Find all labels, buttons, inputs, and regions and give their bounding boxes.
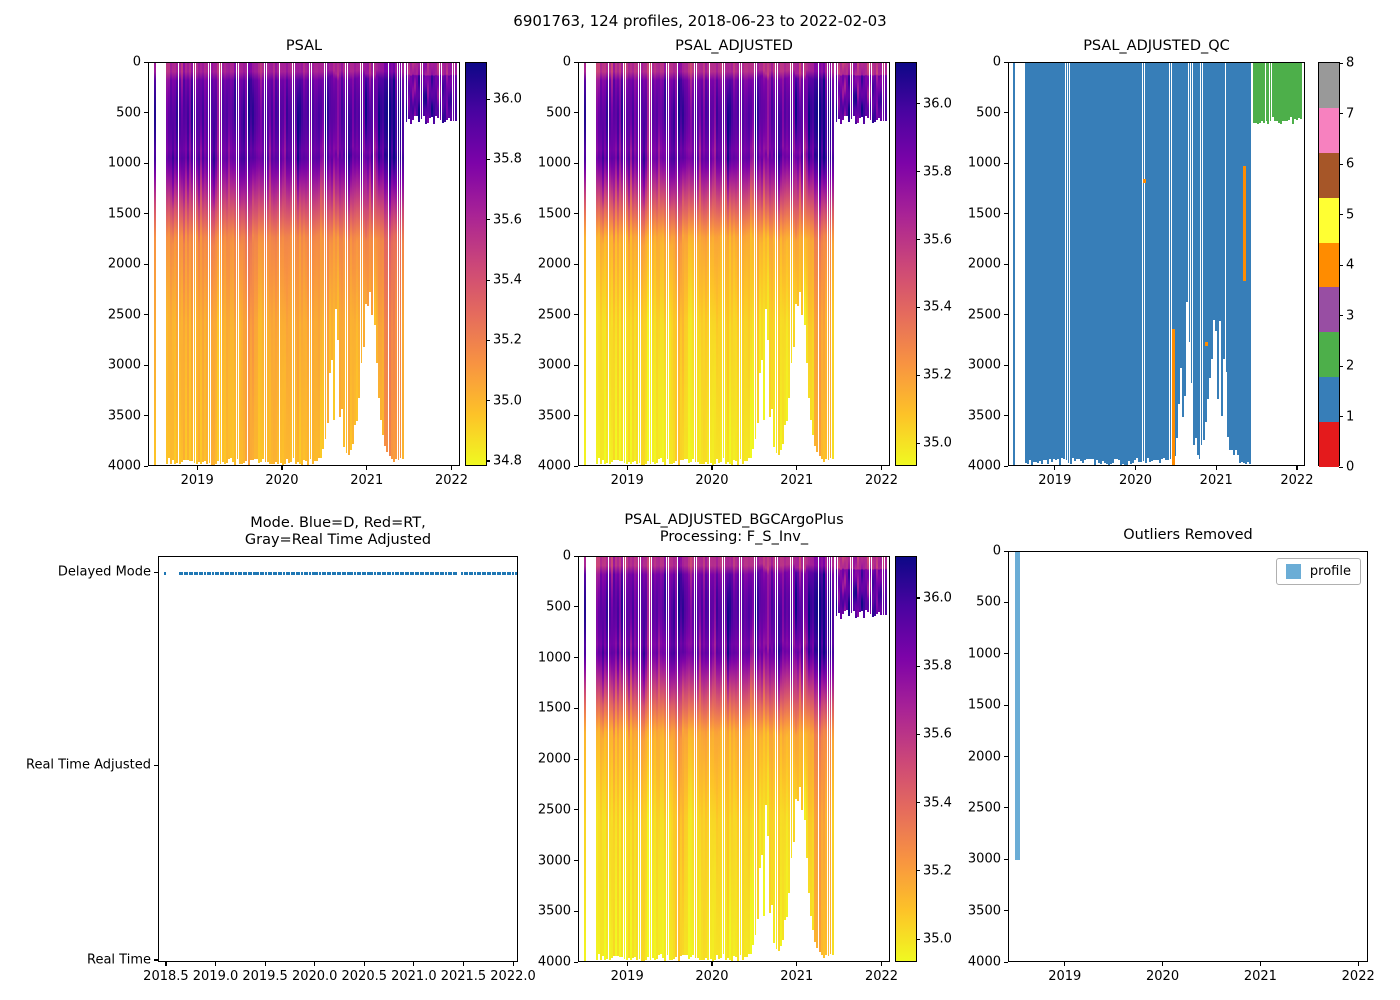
axes-psal-adjusted[interactable] <box>578 62 890 466</box>
ytick-mark <box>1004 365 1008 366</box>
ytick-label: 0 <box>993 544 1001 559</box>
xtick-mark <box>1064 962 1065 966</box>
ytick-label: 1500 <box>538 206 571 221</box>
colorbar-qc[interactable]: 876543210 <box>1318 62 1340 466</box>
ytick-mark <box>1004 756 1008 757</box>
xtick-mark <box>513 962 514 966</box>
ytick-mark <box>144 62 148 63</box>
qc-colorbar-tick-mark <box>1339 366 1343 367</box>
qc-colorbar-tick-mark <box>1339 467 1343 468</box>
xtick-label: 2020.5 <box>342 969 388 984</box>
colorbar-tick-label: 35.0 <box>916 436 952 451</box>
colorbar-tick-mark <box>916 666 920 667</box>
xtick-label: 2022 <box>865 969 898 984</box>
mode-ytick-mark <box>154 959 158 960</box>
panel-psal-title: PSAL <box>148 38 460 55</box>
ytick-mark <box>574 911 578 912</box>
qc-colorbar-segment-4 <box>1319 243 1339 288</box>
ytick-mark <box>1004 653 1008 654</box>
xtick-mark <box>881 962 882 966</box>
ytick-label: 2000 <box>538 752 571 767</box>
qc-colorbar-tick-mark <box>1339 315 1343 316</box>
qc-colorbar-tick-mark <box>1339 416 1343 417</box>
ytick-label: 2000 <box>968 749 1001 764</box>
legend-label-profile: profile <box>1310 564 1351 579</box>
xtick-label: 2020.0 <box>292 969 338 984</box>
xtick-label: 2019 <box>181 473 214 488</box>
ytick-label: 1000 <box>108 156 141 171</box>
colorbar-tick-label: 35.0 <box>486 393 522 408</box>
colorbar-tick-label: 35.6 <box>916 232 952 247</box>
xtick-mark <box>265 962 266 966</box>
profile-column <box>832 63 834 459</box>
colorbar-tick-label: 35.8 <box>916 659 952 674</box>
profile-column <box>832 557 834 955</box>
ytick-label: 0 <box>563 55 571 70</box>
ytick-label: 3500 <box>538 408 571 423</box>
colorbar-gradient-psal-adjusted <box>896 63 916 465</box>
xtick-mark <box>1162 962 1163 966</box>
xtick-label: 2019 <box>611 969 644 984</box>
colorbar-gradient-bgcargoplus <box>896 557 916 961</box>
xtick-label: 2020 <box>695 969 728 984</box>
ytick-mark <box>574 759 578 760</box>
xtick-mark <box>1216 466 1217 470</box>
ytick-mark <box>144 365 148 366</box>
xtick-label: 2021 <box>780 473 813 488</box>
mode-point-delayed <box>298 572 300 575</box>
ytick-mark <box>1004 602 1008 603</box>
ytick-mark <box>1004 163 1008 164</box>
profile-column <box>885 557 887 615</box>
qc-colorbar-segment-8 <box>1319 63 1339 108</box>
colorbar-tick-label: 36.0 <box>916 96 952 111</box>
ytick-mark <box>1004 213 1008 214</box>
ytick-mark <box>144 163 148 164</box>
plot-area-mode <box>159 557 517 961</box>
mode-point-delayed <box>164 572 166 575</box>
colorbar-tick-label: 35.2 <box>916 368 952 383</box>
xtick-mark <box>314 962 315 966</box>
figure-suptitle: 6901763, 124 profiles, 2018-06-23 to 202… <box>0 12 1400 30</box>
panel-bgc-title-line2: Processing: F_S_Inv_ <box>578 529 890 546</box>
mode-point-delayed <box>515 572 517 575</box>
qc-colorbar-segment-6 <box>1319 153 1339 198</box>
mode-point-delayed <box>199 572 201 575</box>
ytick-mark <box>144 415 148 416</box>
qc-profile-column <box>1300 63 1302 119</box>
ytick-label: 2500 <box>968 307 1001 322</box>
axes-mode[interactable] <box>158 556 518 962</box>
xtick-mark <box>627 466 628 470</box>
panel-bgc-title-line1: PSAL_ADJUSTED_BGCArgoPlus <box>578 512 890 529</box>
ytick-label: 2500 <box>968 800 1001 815</box>
ytick-label: 1000 <box>968 646 1001 661</box>
figure-canvas: 6901763, 124 profiles, 2018-06-23 to 202… <box>0 0 1400 1000</box>
xtick-mark <box>364 962 365 966</box>
xtick-label: 2020 <box>265 473 298 488</box>
ytick-label: 500 <box>976 105 1001 120</box>
ytick-label: 3500 <box>108 408 141 423</box>
xtick-mark <box>627 962 628 966</box>
qc-flag-4-point <box>1205 342 1208 346</box>
xtick-label: 2022 <box>1280 473 1313 488</box>
plot-area-psal <box>149 63 459 465</box>
panel-mode-title-line1: Mode. Blue=D, Red=RT, <box>158 515 518 532</box>
xtick-label: 2019 <box>1048 969 1081 984</box>
ytick-label: 0 <box>563 549 571 564</box>
xtick-mark <box>165 962 166 966</box>
colorbar-tick-mark <box>916 734 920 735</box>
xtick-mark <box>413 962 414 966</box>
mode-point-delayed <box>437 572 439 575</box>
xtick-label: 2019.0 <box>193 969 239 984</box>
mode-point-delayed <box>280 572 282 575</box>
legend-swatch-profile <box>1286 564 1301 579</box>
colorbar-gradient-psal <box>466 63 486 465</box>
ytick-label: 500 <box>116 105 141 120</box>
xtick-label: 2022 <box>865 473 898 488</box>
profile-column <box>885 63 887 121</box>
ytick-label: 3500 <box>968 408 1001 423</box>
ytick-label: 4000 <box>968 459 1001 474</box>
colorbar-tick-label: 34.8 <box>486 453 522 468</box>
ytick-mark <box>574 264 578 265</box>
qc-colorbar-tick-mark <box>1339 265 1343 266</box>
xtick-mark <box>711 466 712 470</box>
mode-ytick-mark <box>154 765 158 766</box>
mode-point-delayed <box>215 572 217 575</box>
colorbar-tick-mark <box>916 597 920 598</box>
ytick-mark <box>1004 807 1008 808</box>
colorbar-tick-label: 35.4 <box>916 300 952 315</box>
panel-mode-title-line2: Gray=Real Time Adjusted <box>158 532 518 549</box>
mode-point-delayed <box>471 572 473 575</box>
ytick-label: 0 <box>993 55 1001 70</box>
panel-psal-adjusted-title: PSAL_ADJUSTED <box>578 38 890 55</box>
xtick-label: 2019.5 <box>242 969 288 984</box>
ytick-mark <box>1004 264 1008 265</box>
colorbar-tick-label: 35.4 <box>916 795 952 810</box>
xtick-mark <box>197 466 198 470</box>
colorbar-tick-mark <box>486 99 490 100</box>
xtick-label: 2021.0 <box>391 969 437 984</box>
ytick-mark <box>574 606 578 607</box>
ytick-label: 1500 <box>108 206 141 221</box>
colorbar-tick-mark <box>916 939 920 940</box>
colorbar-tick-label: 35.8 <box>486 152 522 167</box>
profile-column <box>154 63 156 465</box>
ytick-mark <box>1004 466 1008 467</box>
colorbar-tick-mark <box>916 870 920 871</box>
ytick-label: 1500 <box>968 206 1001 221</box>
ytick-mark <box>144 213 148 214</box>
xtick-mark <box>215 962 216 966</box>
qc-colorbar-segment-7 <box>1319 108 1339 153</box>
xtick-label: 2020 <box>695 473 728 488</box>
colorbar-tick-mark <box>916 802 920 803</box>
mode-point-delayed <box>227 572 229 575</box>
ytick-mark <box>144 264 148 265</box>
xtick-mark <box>1358 962 1359 966</box>
colorbar-tick-mark <box>486 400 490 401</box>
qc-flag-4-stripe <box>1172 329 1175 465</box>
colorbar-tick-label: 35.2 <box>916 863 952 878</box>
ytick-mark <box>1004 314 1008 315</box>
xtick-label: 2021.5 <box>441 969 487 984</box>
ytick-label: 2000 <box>108 257 141 272</box>
ytick-mark <box>574 466 578 467</box>
ytick-mark <box>1004 859 1008 860</box>
panel-qc-header: PSAL_ADJUSTED_QC <box>1008 38 1305 64</box>
profile-column <box>584 557 586 961</box>
ytick-mark <box>574 962 578 963</box>
ytick-label: 3000 <box>968 358 1001 373</box>
axes-outliers[interactable]: profile <box>1008 551 1368 962</box>
ytick-mark <box>574 314 578 315</box>
qc-colorbar-segment-1 <box>1319 377 1339 422</box>
mode-point-delayed <box>442 572 444 575</box>
panel-bgc-header: PSAL_ADJUSTED_BGCArgoPlus Processing: F_… <box>578 512 890 552</box>
colorbar-tick-mark <box>486 280 490 281</box>
colorbar-tick-label: 35.6 <box>486 212 522 227</box>
mode-point-delayed <box>235 572 237 575</box>
ytick-mark <box>1004 112 1008 113</box>
colorbar-tick-mark <box>486 219 490 220</box>
qc-flag-4-stripe <box>1243 166 1246 282</box>
ytick-label: 3000 <box>968 852 1001 867</box>
plot-area-bgcargoplus <box>579 557 889 961</box>
ytick-mark <box>144 314 148 315</box>
colorbar-tick-label: 35.8 <box>916 164 952 179</box>
ytick-label: 3500 <box>538 904 571 919</box>
colorbar-tick-mark <box>486 460 490 461</box>
colorbar-tick-mark <box>486 340 490 341</box>
ytick-label: 2500 <box>538 307 571 322</box>
qc-colorbar-segment-0 <box>1319 422 1339 467</box>
plot-area-psal-adjusted <box>579 63 889 465</box>
ytick-mark <box>1004 705 1008 706</box>
outlier-profile-bar <box>1015 552 1020 860</box>
ytick-mark <box>574 365 578 366</box>
xtick-mark <box>796 962 797 966</box>
profile-column <box>584 63 586 465</box>
colorbar-tick-mark <box>916 307 920 308</box>
mode-point-delayed <box>384 572 386 575</box>
xtick-label: 2021 <box>1244 969 1277 984</box>
ytick-label: 0 <box>133 55 141 70</box>
axes-psal-adjusted-qc[interactable] <box>1008 62 1305 466</box>
colorbar-tick-mark <box>916 103 920 104</box>
xtick-mark <box>281 466 282 470</box>
mode-ytick-label: Real Time <box>87 952 151 967</box>
xtick-mark <box>796 466 797 470</box>
ytick-label: 1000 <box>968 156 1001 171</box>
xtick-mark <box>366 466 367 470</box>
ytick-label: 1500 <box>968 698 1001 713</box>
qc-colorbar-tick-mark <box>1339 164 1343 165</box>
xtick-label: 2022.0 <box>490 969 536 984</box>
colorbar-tick-label: 36.0 <box>486 92 522 107</box>
profile-column <box>455 63 457 121</box>
colorbar-tick-mark <box>916 239 920 240</box>
colorbar-tick-mark <box>916 443 920 444</box>
mode-point-delayed <box>293 572 295 575</box>
xtick-label: 2019 <box>1038 473 1071 488</box>
panel-mode-header: Mode. Blue=D, Red=RT, Gray=Real Time Adj… <box>158 515 518 555</box>
xtick-label: 2022 <box>435 473 468 488</box>
qc-flag-4-point <box>1143 179 1146 183</box>
plot-area-outliers <box>1009 552 1367 961</box>
xtick-mark <box>1296 466 1297 470</box>
mode-point-delayed <box>509 572 511 575</box>
ytick-label: 500 <box>546 105 571 120</box>
ytick-label: 500 <box>976 595 1001 610</box>
ytick-mark <box>1004 62 1008 63</box>
xtick-label: 2021 <box>780 969 813 984</box>
mode-point-delayed <box>374 572 376 575</box>
qc-colorbar-segment-5 <box>1319 198 1339 243</box>
xtick-label: 2020 <box>1146 969 1179 984</box>
xtick-mark <box>881 466 882 470</box>
colorbar-tick-label: 35.4 <box>486 273 522 288</box>
colorbar-tick-label: 35.2 <box>486 333 522 348</box>
ytick-mark <box>574 213 578 214</box>
legend-outliers[interactable]: profile <box>1276 558 1361 585</box>
xtick-mark <box>1260 962 1261 966</box>
ytick-label: 2500 <box>538 802 571 817</box>
ytick-mark <box>574 163 578 164</box>
colorbar-tick-label: 36.0 <box>916 590 952 605</box>
panel-outliers-header: Outliers Removed <box>1008 527 1368 553</box>
ytick-label: 4000 <box>968 955 1001 970</box>
colorbar-tick-mark <box>916 171 920 172</box>
axes-psal[interactable] <box>148 62 460 466</box>
ytick-label: 500 <box>546 599 571 614</box>
xtick-mark <box>463 962 464 966</box>
ytick-label: 4000 <box>538 459 571 474</box>
mode-ytick-mark <box>154 572 158 573</box>
qc-colorbar-tick-mark <box>1339 113 1343 114</box>
mode-ytick-label: Delayed Mode <box>58 565 151 580</box>
qc-colorbar-tick-mark <box>1339 63 1343 64</box>
ytick-mark <box>574 556 578 557</box>
ytick-mark <box>574 112 578 113</box>
qc-colorbar-segment-2 <box>1319 332 1339 377</box>
ytick-label: 3000 <box>538 853 571 868</box>
panel-outliers-title: Outliers Removed <box>1008 527 1368 544</box>
ytick-mark <box>574 657 578 658</box>
ytick-label: 2000 <box>538 257 571 272</box>
ytick-mark <box>1004 415 1008 416</box>
xtick-mark <box>711 962 712 966</box>
colorbar-bgcargoplus[interactable]: 36.035.835.635.435.235.0 <box>895 556 917 962</box>
qc-colorbar-tick-mark <box>1339 214 1343 215</box>
ytick-label: 4000 <box>538 955 571 970</box>
qc-profile-column <box>1249 63 1251 464</box>
colorbar-tick-label: 35.0 <box>916 932 952 947</box>
xtick-mark <box>1135 466 1136 470</box>
qc-colorbar-segment-3 <box>1319 287 1339 332</box>
xtick-label: 2020 <box>1119 473 1152 488</box>
ytick-label: 4000 <box>108 459 141 474</box>
xtick-label: 2022 <box>1342 969 1375 984</box>
mode-point-delayed <box>212 572 214 575</box>
profile-column <box>402 63 404 459</box>
ytick-label: 2500 <box>108 307 141 322</box>
colorbar-tick-mark <box>916 375 920 376</box>
ytick-label: 1000 <box>538 156 571 171</box>
ytick-label: 3000 <box>108 358 141 373</box>
ytick-mark <box>574 62 578 63</box>
ytick-label: 3000 <box>538 358 571 373</box>
ytick-label: 3500 <box>968 903 1001 918</box>
colorbar-tick-mark <box>486 159 490 160</box>
colorbar-tick-label: 35.6 <box>916 727 952 742</box>
xtick-mark <box>451 466 452 470</box>
mode-point-delayed <box>482 572 484 575</box>
mode-point-delayed <box>464 572 466 575</box>
mode-ytick-label: Real Time Adjusted <box>26 758 151 773</box>
ytick-mark <box>144 466 148 467</box>
xtick-label: 2021 <box>1200 473 1233 488</box>
ytick-mark <box>1004 910 1008 911</box>
ytick-mark <box>1004 551 1008 552</box>
panel-qc-title: PSAL_ADJUSTED_QC <box>1008 38 1305 55</box>
ytick-mark <box>574 860 578 861</box>
qc-profile-column <box>1013 63 1015 465</box>
ytick-label: 2000 <box>968 257 1001 272</box>
axes-bgcargoplus[interactable] <box>578 556 890 962</box>
mode-point-delayed <box>455 572 457 575</box>
ytick-mark <box>574 415 578 416</box>
panel-psal-adjusted-header: PSAL_ADJUSTED <box>578 38 890 64</box>
xtick-label: 2018.5 <box>143 969 189 984</box>
plot-area-qc <box>1009 63 1304 465</box>
xtick-label: 2019 <box>611 473 644 488</box>
ytick-label: 1500 <box>538 701 571 716</box>
ytick-mark <box>1004 962 1008 963</box>
ytick-label: 1000 <box>538 650 571 665</box>
panel-psal-header: PSAL <box>148 38 460 64</box>
ytick-mark <box>574 708 578 709</box>
ytick-mark <box>574 809 578 810</box>
xtick-mark <box>1054 466 1055 470</box>
colorbar-psal-adjusted[interactable]: 36.035.835.635.435.235.0 <box>895 62 917 466</box>
colorbar-psal[interactable]: 36.035.835.635.435.235.034.8 <box>465 62 487 466</box>
ytick-mark <box>144 112 148 113</box>
xtick-label: 2021 <box>350 473 383 488</box>
